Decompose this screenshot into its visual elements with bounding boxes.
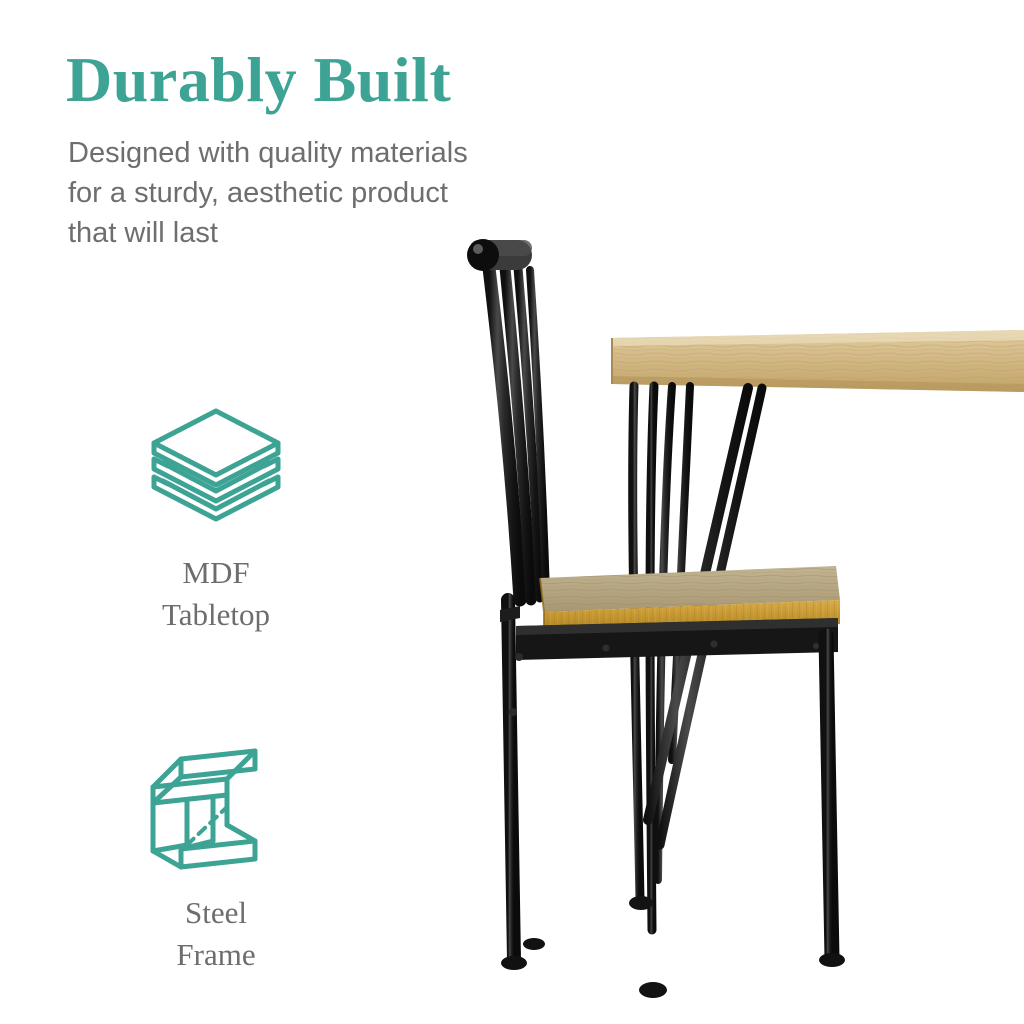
page-subtitle: Designed with quality materials for a st… xyxy=(68,133,588,253)
i-beam-icon-wrapper xyxy=(96,738,336,878)
chair-front-legs xyxy=(826,636,832,958)
chair-foot-cap xyxy=(819,953,845,967)
table-top xyxy=(612,330,1024,392)
chair-side-bracket xyxy=(500,606,523,716)
layers-icon-wrapper xyxy=(96,398,336,538)
chair-foot-cap xyxy=(523,938,545,950)
i-beam-icon xyxy=(143,741,289,875)
feature-steel-label-line-2: Frame xyxy=(96,934,336,976)
subtitle-line-3: that will last xyxy=(68,213,588,253)
feature-steel-frame: Steel Frame xyxy=(96,738,336,976)
subtitle-line-2: for a sturdy, aesthetic product xyxy=(68,173,588,213)
page-title: Durably Built xyxy=(66,44,451,116)
table-legs xyxy=(633,386,762,930)
chair-back-legs xyxy=(508,600,534,960)
table-foot-cap xyxy=(629,896,653,910)
subtitle-line-1: Designed with quality materials xyxy=(68,133,588,173)
feature-mdf-tabletop: MDF Tabletop xyxy=(96,398,336,636)
chair-seat xyxy=(540,566,840,634)
feature-steel-label-line-1: Steel xyxy=(96,892,336,934)
feature-mdf-label-line-2: Tabletop xyxy=(96,594,336,636)
table xyxy=(612,330,1024,998)
layers-icon xyxy=(141,405,291,531)
chair xyxy=(467,239,845,970)
chair-backrest xyxy=(489,268,546,600)
chair-seat-frame xyxy=(516,618,838,660)
product-feature-banner: Durably Built Designed with quality mate… xyxy=(0,0,1024,1024)
table-foot-cap xyxy=(639,982,667,998)
feature-steel-label: Steel Frame xyxy=(96,892,336,976)
chair-foot-cap xyxy=(501,956,527,970)
feature-mdf-label-line-1: MDF xyxy=(96,552,336,594)
feature-mdf-label: MDF Tabletop xyxy=(96,552,336,636)
